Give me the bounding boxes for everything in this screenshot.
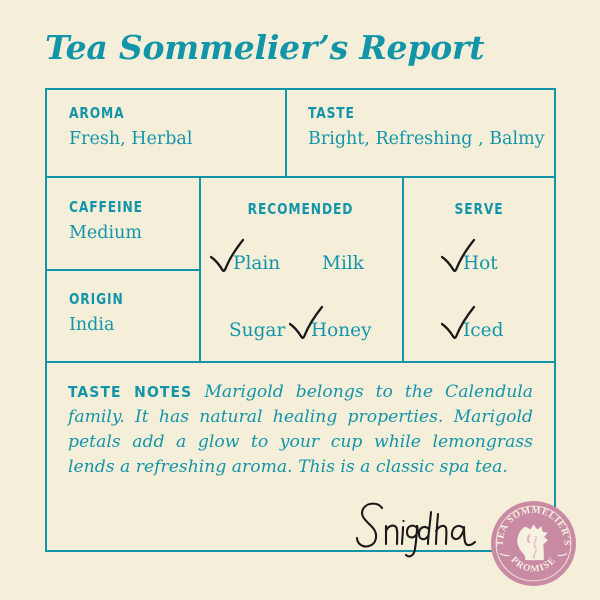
tea-sommelier-report-card: Tea Sommelier’s Report AROMA Fresh, Herb… <box>0 0 600 600</box>
signature: Snigdha <box>352 498 487 560</box>
option-plain[interactable]: Plain <box>233 253 280 274</box>
cell-origin: ORIGIN India <box>69 290 131 335</box>
cell-taste: TASTE Bright, Refreshing , Balmy <box>308 104 545 149</box>
option-sugar[interactable]: Sugar <box>229 320 285 341</box>
taste-notes-paragraph: TASTE NOTES Marigold belongs to the Cale… <box>68 380 533 480</box>
origin-label: ORIGIN <box>69 290 124 308</box>
cell-caffeine: CAFFEINE Medium <box>69 198 153 243</box>
taste-notes-label: TASTE NOTES <box>68 383 192 401</box>
page-title: Tea Sommelier’s Report <box>45 28 484 67</box>
taste-label: TASTE <box>308 104 516 122</box>
cell-serve: SERVE <box>402 200 556 218</box>
option-iced[interactable]: Iced <box>463 320 503 341</box>
seal-badge: TEA SOMMELIER'S PROMISE <box>491 501 576 586</box>
divider-vertical-row1 <box>285 88 287 178</box>
cell-recommended: RECOMENDED <box>199 200 402 218</box>
aroma-value: Fresh, Herbal <box>69 129 192 149</box>
recommended-label: RECOMENDED <box>211 200 390 218</box>
caffeine-value: Medium <box>69 223 153 243</box>
option-milk[interactable]: Milk <box>322 253 364 274</box>
origin-value: India <box>69 315 131 335</box>
aroma-label: AROMA <box>69 104 178 122</box>
option-hot[interactable]: Hot <box>463 253 498 274</box>
taste-value: Bright, Refreshing , Balmy <box>308 129 545 149</box>
serve-label: SERVE <box>411 200 547 218</box>
option-honey[interactable]: Honey <box>311 320 372 341</box>
divider-horizontal-caffeine-origin <box>45 269 201 271</box>
caffeine-label: CAFFEINE <box>69 198 143 216</box>
cell-aroma: AROMA Fresh, Herbal <box>69 104 192 149</box>
